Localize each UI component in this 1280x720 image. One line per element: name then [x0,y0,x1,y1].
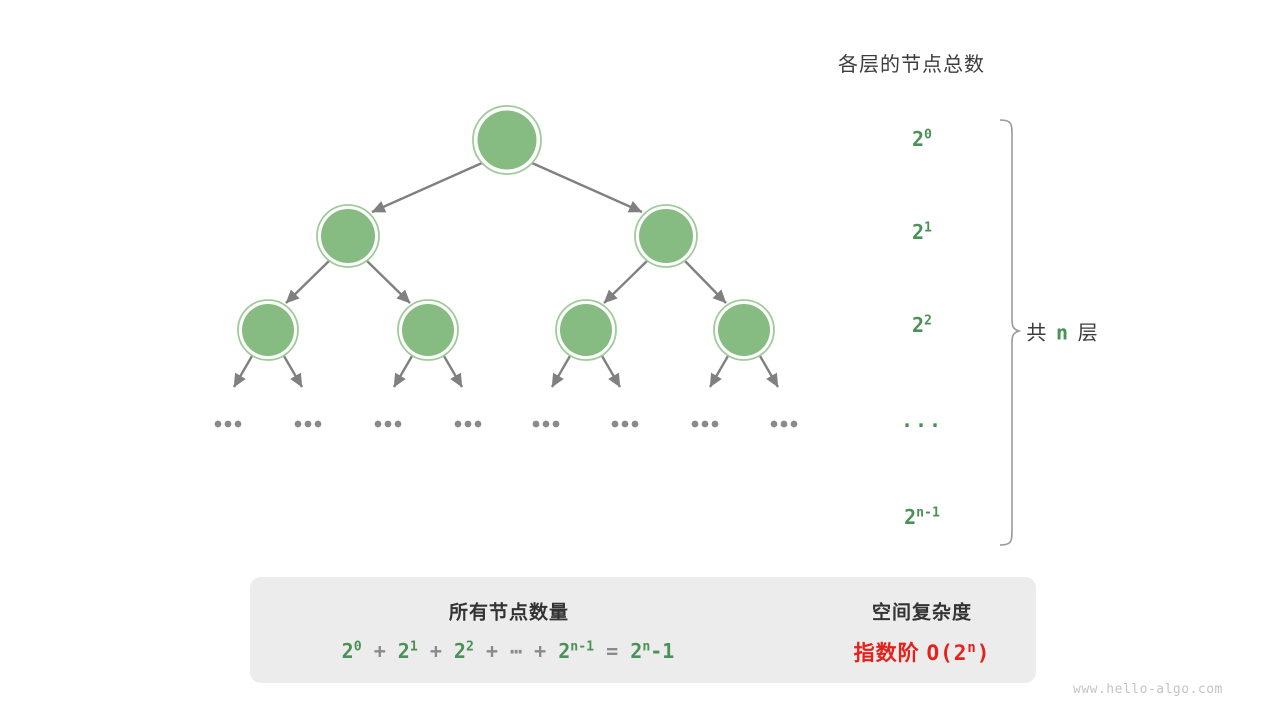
edge-leaf4-left [710,356,728,387]
complexity-notation: O(2n) [926,641,990,665]
tree-node-l2-3[interactable] [714,300,774,360]
ellipsis-dots [295,421,322,428]
ellipsis-dots [692,421,719,428]
ellipsis-dots [455,421,482,428]
tree-node-l2-2[interactable] [556,300,616,360]
summary-right-value: 指数阶 O(2n) [854,637,991,667]
edge-root-right [532,163,642,212]
total-layers-label: 共 n 层 [1026,317,1099,346]
tree-node-root[interactable] [473,106,541,174]
edge-leaf3-right [602,356,620,387]
edge-l1b-right [685,261,726,303]
total-layers-variable: n [1056,321,1070,345]
edge-leaf3-left [552,356,570,387]
level-count-label-last: 2n-1 [904,505,940,529]
level-count-label-2: 22 [912,313,932,337]
complexity-class-label: 指数阶 [854,642,920,665]
watermark: www.hello-algo.com [1073,682,1223,697]
summary-left-title: 所有节点数量 [449,598,569,625]
ellipsis-dots [533,421,560,428]
level-count-label-0: 20 [912,127,932,151]
summary-box [250,577,1036,683]
tree-edges [234,163,778,387]
total-layers-suffix: 层 [1078,323,1100,345]
level-count-label-ellipsis: ... [901,408,943,432]
edge-l1a-right [367,261,410,303]
edge-leaf4-right [760,356,778,387]
tree-node-l1-1[interactable] [635,205,697,267]
ellipsis-dots [771,421,798,428]
tree-nodes [238,106,774,360]
levels-brace [1000,120,1019,545]
edge-leaf2-right [444,356,462,387]
levels-column-title: 各层的节点总数 [838,48,985,77]
level-count-label-1: 21 [912,220,932,244]
edge-leaf2-left [394,356,412,387]
ellipsis-dots [215,421,242,428]
summary-formula: 20 + 21 + 22 + ⋯ + 2n-1 = 2n-1 [342,639,675,663]
edge-l1a-left [286,261,329,303]
summary-right-title: 空间复杂度 [872,598,972,625]
edge-leaf1-left [234,356,252,387]
total-layers-prefix: 共 [1026,323,1048,345]
ellipsis-dots [375,421,402,428]
tree-node-l1-0[interactable] [317,205,379,267]
tree-node-l2-0[interactable] [238,300,298,360]
edge-root-left [372,163,482,212]
edge-leaf1-right [284,356,302,387]
tree-ellipsis-row [215,421,798,428]
tree-node-l2-1[interactable] [398,300,458,360]
ellipsis-dots [612,421,639,428]
edge-l1b-left [604,261,647,303]
